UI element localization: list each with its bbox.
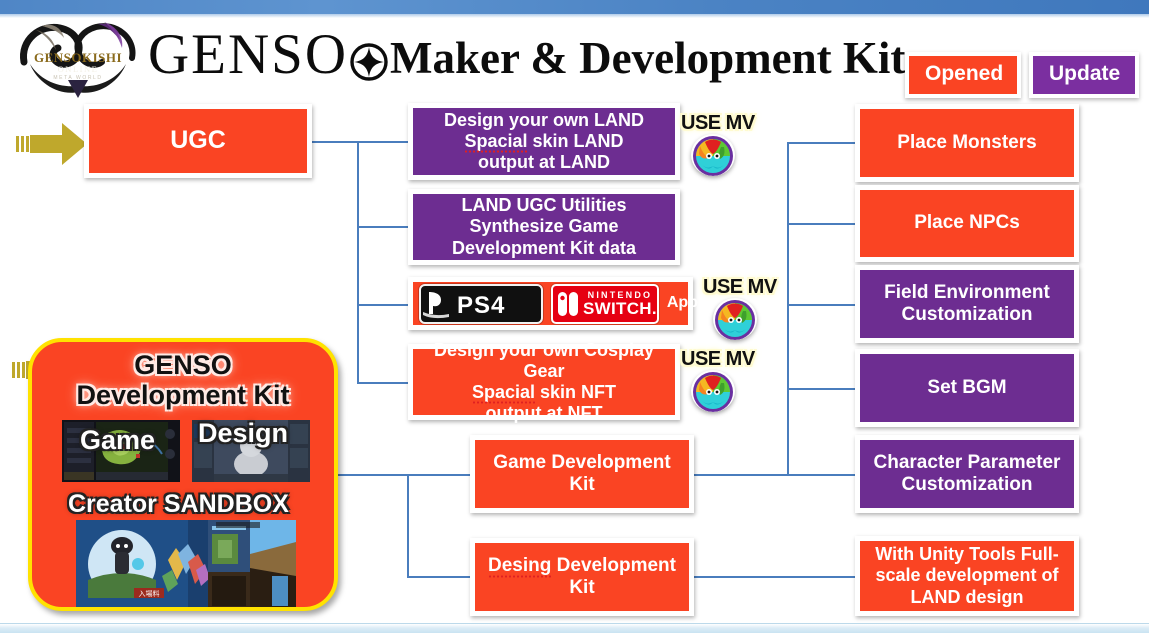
thumbnail-creator-sandbox: 入場料 — [76, 520, 296, 610]
connector-right-spine — [787, 142, 789, 475]
node-land-ugc-utilities[interactable]: LAND UGC Utilities Synthesize Game Devel… — [408, 189, 680, 265]
node-console-appearance[interactable]: PS4 NINTENDO SWITCH. Appearance — [408, 277, 693, 330]
connector-to-console — [357, 304, 409, 306]
status-badge-update[interactable]: Update — [1029, 52, 1139, 98]
status-badge-opened[interactable]: Opened — [905, 52, 1021, 98]
svg-text:GENSOKISHI: GENSOKISHI — [34, 50, 122, 65]
connector-to-game-kit — [407, 474, 472, 476]
connector-ugc-spine — [357, 141, 359, 383]
gensokishi-logo: GENSOKISHI ONLINE META WORLD — [12, 18, 144, 100]
svg-text:ONLINE: ONLINE — [58, 64, 99, 74]
node-desing-development-kit[interactable]: Desing Development Kit — [470, 538, 694, 616]
switch-label-big: SWITCH. — [583, 300, 657, 317]
svg-text:入場料: 入場料 — [139, 589, 160, 598]
thumbnail-design-label: Design — [198, 418, 288, 449]
thumbnail-game-label: Game — [80, 425, 155, 456]
use-mv-badge-console: USE MV — [703, 276, 781, 342]
mv-orb-icon — [691, 134, 735, 176]
node-game-development-kit[interactable]: Game Development Kit — [470, 435, 694, 513]
typo-desing: Desing — [488, 555, 551, 576]
connector-to-land-design — [357, 141, 409, 143]
diamond-icon — [350, 33, 388, 87]
connector-devkit-spine — [407, 474, 409, 577]
node-ugc[interactable]: UGC — [84, 104, 312, 178]
node-place-monsters[interactable]: Place Monsters — [855, 104, 1079, 182]
connector-to-place-npcs — [787, 223, 855, 225]
panel-genso-development-kit[interactable]: GENSO Development Kit — [28, 338, 338, 611]
typo-spacial-nft: Spacial — [472, 382, 535, 402]
connector-gamekit-out — [694, 474, 788, 476]
connector-to-desing-kit — [407, 576, 472, 578]
arrow-icon-ugc — [14, 122, 88, 166]
connector-to-land-utilities — [357, 226, 409, 228]
top-decor-bar — [0, 0, 1149, 14]
node-design-cosplay-gear[interactable]: Design your own Cosplay Gear Spacial ski… — [408, 344, 680, 420]
page-title: GENSO Maker & Development Kit — [148, 28, 905, 85]
node-character-parameter-customization[interactable]: Character Parameter Customization — [855, 435, 1079, 513]
panel-title-line2: Development Kit — [76, 380, 289, 410]
connector-to-char-param — [787, 474, 855, 476]
bottom-decor-bar — [0, 623, 1149, 633]
node-field-environment-customization[interactable]: Field Environment Customization — [855, 265, 1079, 343]
connector-to-place-monsters — [787, 142, 855, 144]
panel-title: GENSO Development Kit — [32, 350, 334, 410]
connector-devkit-out — [338, 474, 408, 476]
mv-orb-icon — [713, 298, 757, 340]
nintendo-switch-logo-icon: NINTENDO SWITCH. — [551, 284, 659, 324]
connector-to-cosplay — [357, 382, 409, 384]
node-design-own-land[interactable]: Design your own LAND Spacial skin LAND o… — [408, 103, 680, 180]
panel-title-line1: GENSO — [134, 350, 232, 380]
title-brand: GENSO — [148, 23, 348, 86]
use-mv-badge-land: USE MV — [681, 112, 759, 178]
connector-to-set-bgm — [787, 388, 855, 390]
thumbnail-sandbox-label: Creator SANDBOX — [68, 490, 289, 519]
connector-to-unity-tools — [694, 576, 856, 578]
slide-canvas: GENSOKISHI ONLINE META WORLD GENSO Maker… — [0, 0, 1149, 633]
title-rest: Maker & Development Kit — [390, 33, 905, 83]
mv-orb-icon — [691, 370, 735, 412]
svg-text:PS4: PS4 — [457, 292, 505, 319]
typo-spacial-land: Spacial — [464, 131, 527, 151]
svg-text:META WORLD: META WORLD — [53, 75, 102, 81]
ps4-logo-icon: PS4 — [419, 284, 543, 324]
node-place-npcs[interactable]: Place NPCs — [855, 185, 1079, 262]
node-set-bgm[interactable]: Set BGM — [855, 349, 1079, 427]
connector-ugc-out — [312, 141, 358, 143]
node-unity-tools-land-design[interactable]: With Unity Tools Full- scale development… — [855, 536, 1079, 616]
connector-to-field-env — [787, 304, 855, 306]
use-mv-badge-cosplay: USE MV — [681, 348, 759, 414]
top-decor-fade — [0, 14, 1149, 18]
